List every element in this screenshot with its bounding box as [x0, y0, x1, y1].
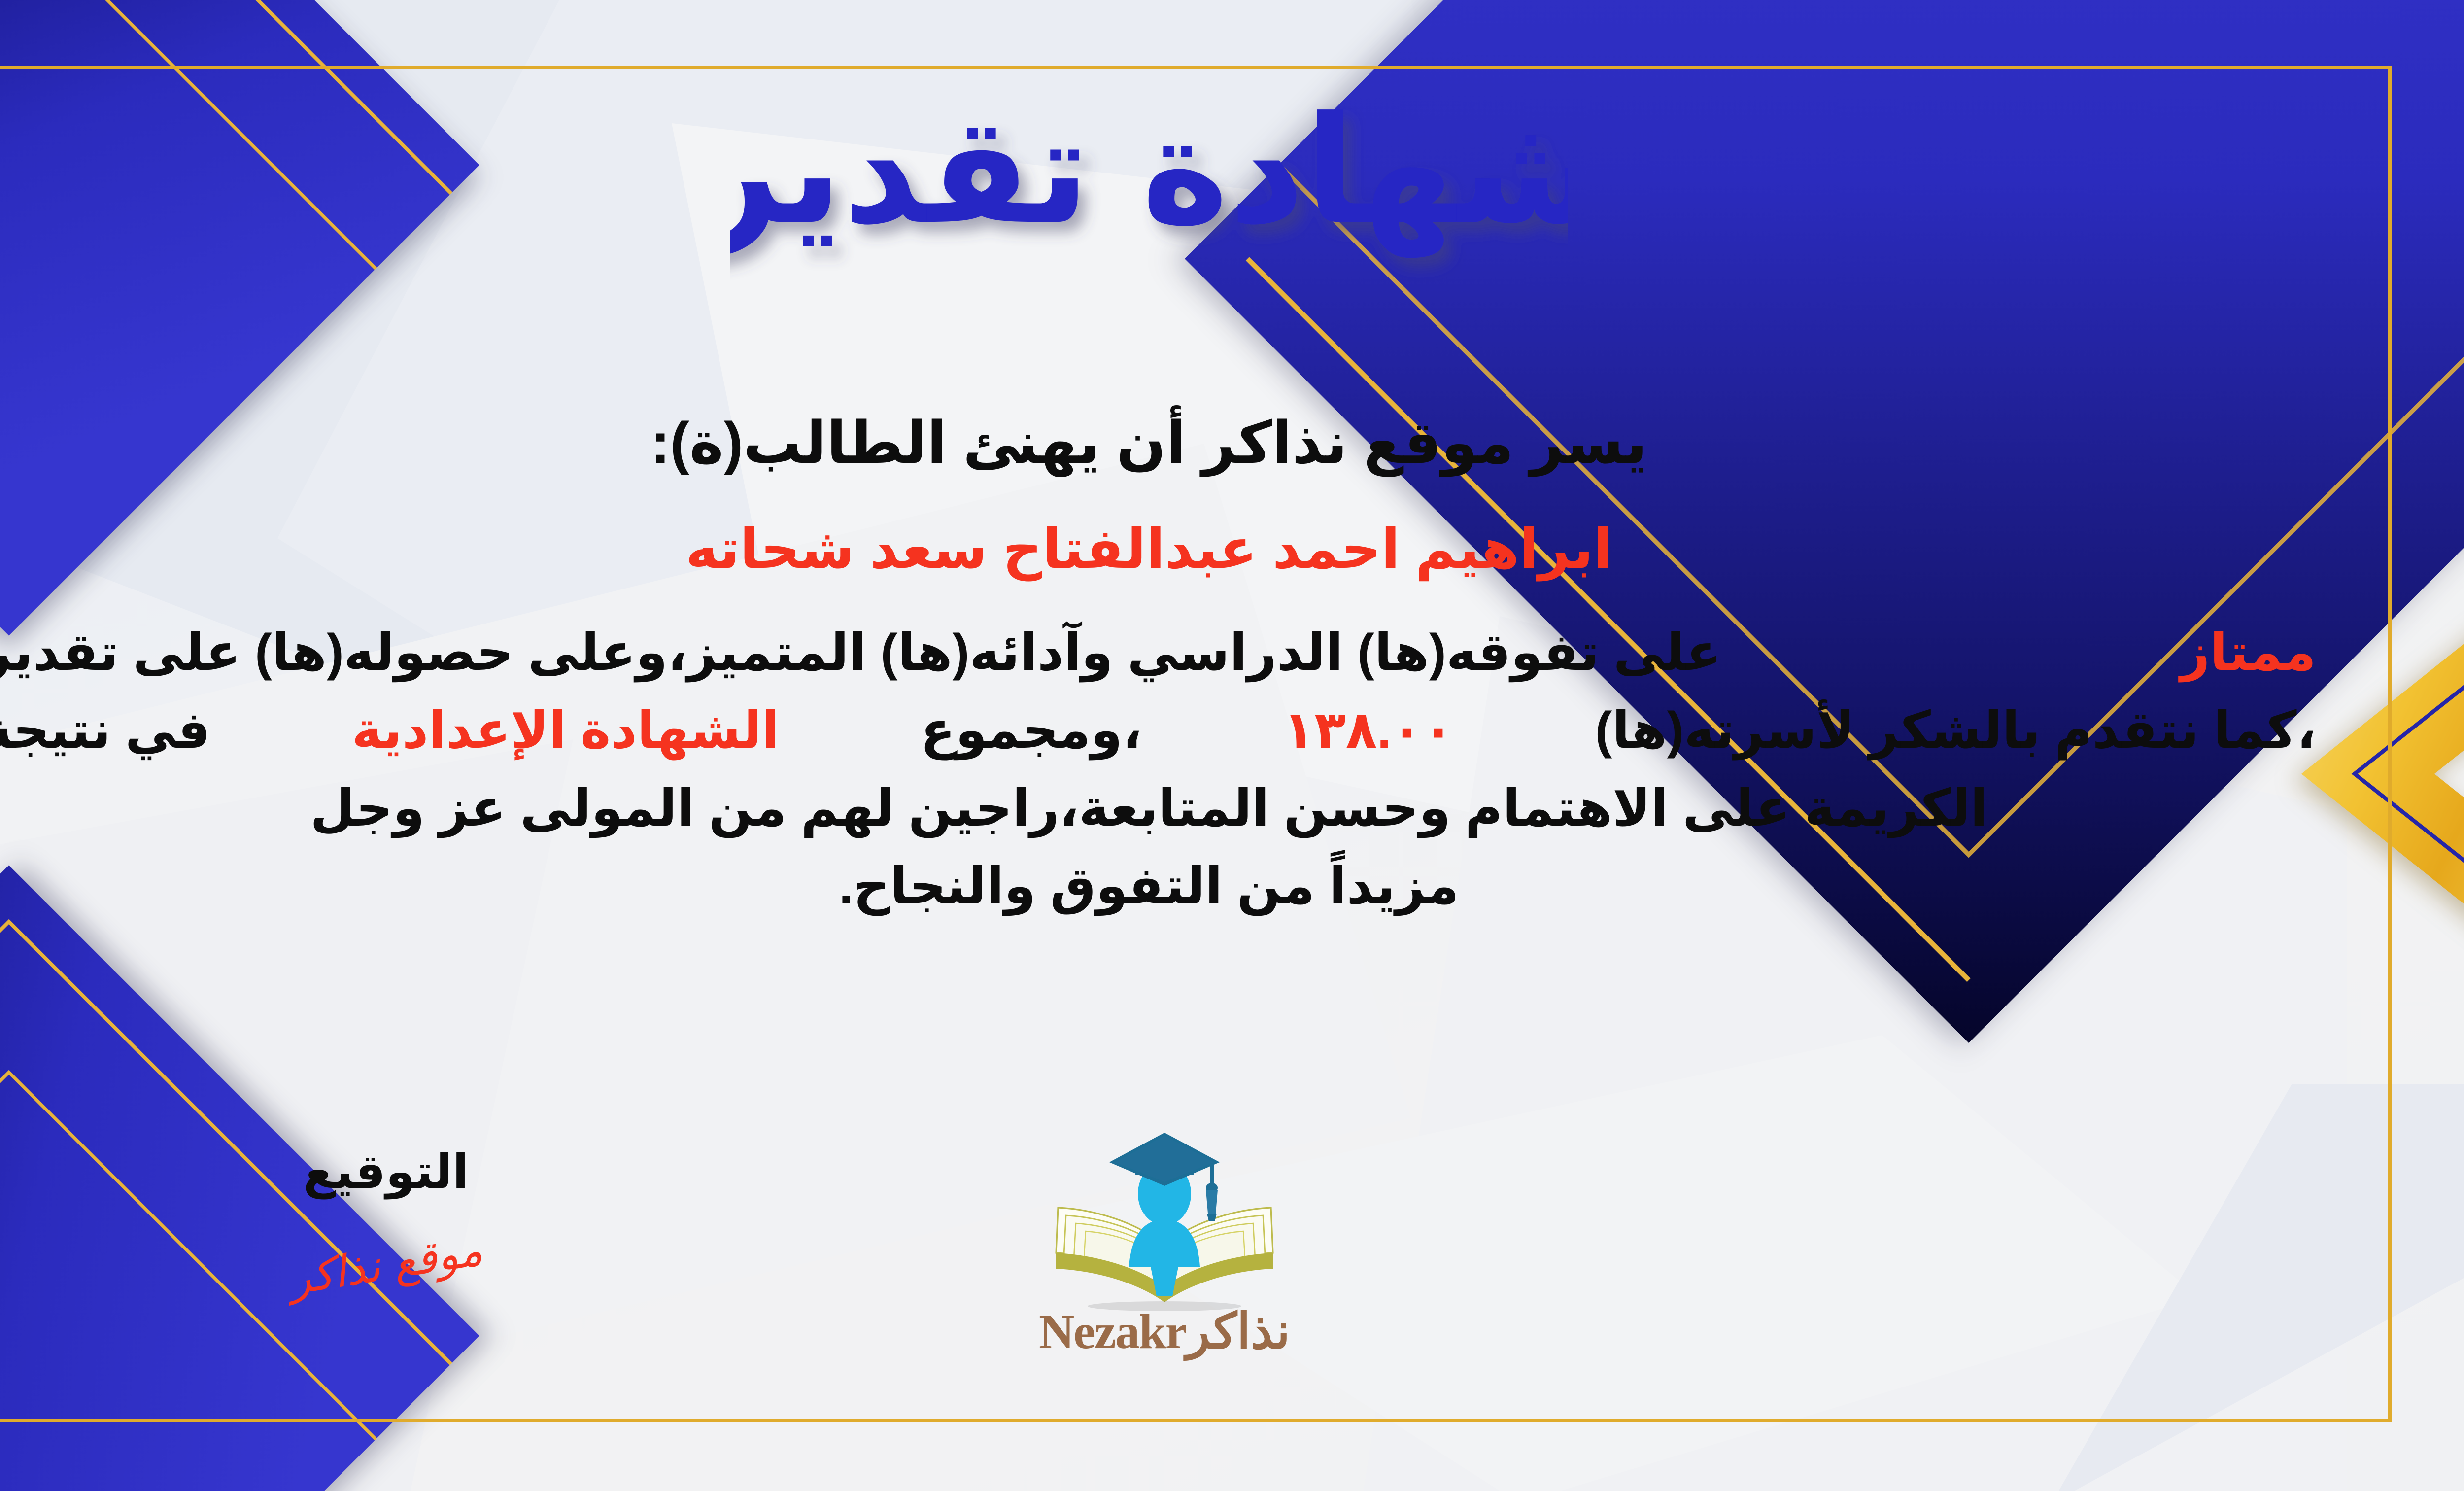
exam-name-value: الشهادة الإعدادية	[352, 692, 779, 769]
logo-text-arabic: نذاكر	[1186, 1304, 1290, 1359]
student-name: ابراهيم احمد عبدالفتاح سعد شحاته	[0, 513, 2316, 585]
graduate-book-logo-icon	[1036, 1129, 1293, 1311]
graduate-body-icon	[1129, 1219, 1200, 1267]
tassel-icon	[1206, 1190, 1218, 1214]
logo-wordmark: نذاكرNezakr	[967, 1302, 1362, 1360]
body-line-2-suffix: ،كما نتقدم بالشكر لأسرته(ها)	[1595, 692, 2316, 769]
certificate-body: يسر موقع نذاكر أن يهنئ الطالب(ة): ابراهي…	[0, 404, 2316, 925]
body-line-1-rest: على تفوقه(ها) الدراسي وآدائه(ها) المتميز…	[0, 614, 1721, 692]
body-line-2-mid: ،ومجموع	[921, 692, 1142, 769]
certificate-canvas: شهادة تقدير يسر موقع نذاكر أن يهنئ الطال…	[0, 0, 2464, 1491]
signature-block: التوقيع موقع نذاكر	[208, 1148, 563, 1286]
body-line-4: مزيداً من التفوق والنجاح.	[0, 847, 2316, 925]
body-line-3: الكريمة على الاهتمام وحسن المتابعة،راجين…	[0, 769, 2316, 847]
body-line-1: ممتاز على تفوقه(ها) الدراسي وآدائه(ها) ا…	[0, 614, 2316, 692]
logo-text-latin: Nezakr	[1039, 1304, 1186, 1359]
site-logo: نذاكرNezakr	[967, 1129, 1362, 1360]
body-paragraph: ممتاز على تفوقه(ها) الدراسي وآدائه(ها) ا…	[0, 614, 2316, 925]
grade-value: ممتاز	[2181, 614, 2317, 692]
greeting-line: يسر موقع نذاكر أن يهنئ الطالب(ة):	[0, 404, 2316, 483]
total-score-value: ١٣٨.٠٠	[1283, 692, 1454, 769]
body-line-1-tail: الدراسي وآدائه(ها) المتميز،وعلى حصوله(ها…	[0, 624, 1343, 681]
body-line-2-prefix: في نتيجة	[0, 692, 210, 769]
signature-label: التوقيع	[208, 1148, 563, 1196]
body-line-2: ،كما نتقدم بالشكر لأسرته(ها) ١٣٨.٠٠ ،ومج…	[0, 692, 2316, 769]
body-line-1-start: على تفوقه(ها)	[1357, 624, 1721, 681]
